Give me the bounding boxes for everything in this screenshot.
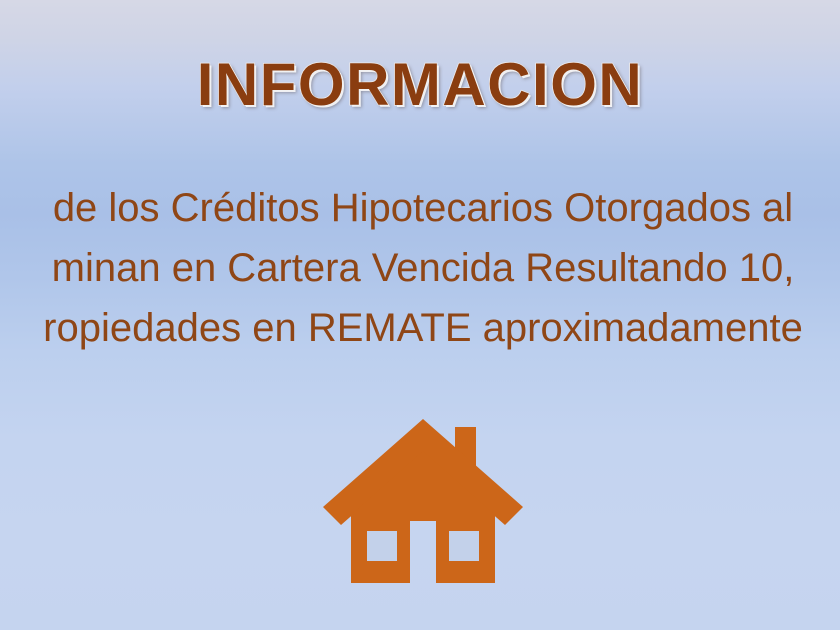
slide-body-text: de los Créditos Hipotecarios Otorgados a… [0, 178, 840, 358]
presentation-slide: INFORMACION de los Créditos Hipotecarios… [0, 0, 840, 630]
body-line-1: de los Créditos Hipotecarios Otorgados a… [0, 178, 840, 238]
slide-title: INFORMACION [197, 52, 643, 118]
house-window-left-icon [367, 531, 397, 561]
house-window-right-icon [449, 531, 479, 561]
slide-title-container: INFORMACION [0, 52, 840, 118]
body-line-2: minan en Cartera Vencida Resultando 10, [0, 238, 840, 298]
body-line-3: ropiedades en REMATE aproximadamente [0, 298, 840, 358]
house-icon [323, 415, 523, 595]
house-icon-container [323, 415, 523, 595]
